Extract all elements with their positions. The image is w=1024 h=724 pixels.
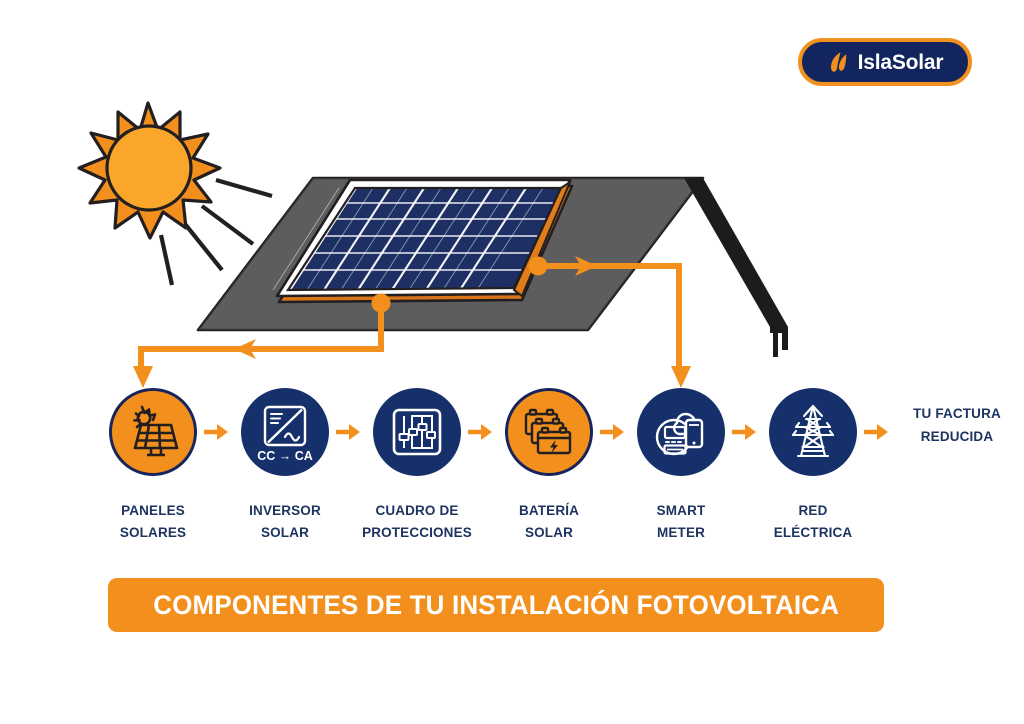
outcome-line-2: REDUCIDA	[892, 426, 1022, 449]
node-label-smart-meter: SMART METER	[606, 500, 756, 545]
solar-panel-sun-icon	[122, 401, 184, 463]
inverter-icon: CC → CA	[252, 399, 318, 465]
arrow-right-icon-3	[468, 421, 494, 443]
label-line-1: INVERSOR	[210, 500, 360, 522]
arrow-right-icon-5	[732, 421, 758, 443]
label-line-1: CUADRO DE	[342, 500, 492, 522]
node-red-electrica[interactable]	[769, 388, 857, 476]
node-paneles-solares[interactable]	[109, 388, 197, 476]
node-smart-meter[interactable]	[637, 388, 725, 476]
arrow-right-icon-6	[864, 421, 890, 443]
outcome-text: TU FACTURA REDUCIDA	[892, 403, 1022, 449]
label-line-2: SOLAR	[210, 522, 360, 544]
label-line-2: PROTECCIONES	[342, 522, 492, 544]
node-label-cuadro-protecciones: CUADRO DE PROTECCIONES	[342, 500, 492, 545]
label-line-1: RED	[738, 500, 888, 522]
node-label-red-electrica: RED ELÉCTRICA	[738, 500, 888, 545]
label-line-1: SMART	[606, 500, 756, 522]
label-line-2: SOLAR	[474, 522, 624, 544]
arrow-right-icon-1	[204, 421, 230, 443]
title-banner: COMPONENTES DE TU INSTALACIÓN FOTOVOLTAI…	[108, 578, 884, 632]
node-label-bateria-solar: BATERÍA SOLAR	[474, 500, 624, 545]
label-line-2: METER	[606, 522, 756, 544]
node-inversor-solar[interactable]: CC → CA	[241, 388, 329, 476]
battery-stack-icon	[519, 402, 579, 462]
label-line-1: BATERÍA	[474, 500, 624, 522]
node-bateria-solar[interactable]	[505, 388, 593, 476]
label-line-2: ELÉCTRICA	[738, 522, 888, 544]
smart-meter-cloud-icon	[650, 401, 712, 463]
arrow-right-icon-4	[600, 421, 626, 443]
breaker-panel-icon	[388, 403, 446, 461]
infographic-canvas: IslaSolar	[0, 0, 1024, 724]
inverter-caption: CC → CA	[257, 449, 313, 463]
label-line-2: SOLARES	[78, 522, 228, 544]
label-line-1: PANELES	[78, 500, 228, 522]
node-cuadro-protecciones[interactable]	[373, 388, 461, 476]
banner-title: COMPONENTES DE TU INSTALACIÓN FOTOVOLTAI…	[153, 590, 839, 621]
outcome-line-1: TU FACTURA	[892, 403, 1022, 426]
node-label-paneles-solares: PANELES SOLARES	[78, 500, 228, 545]
node-label-inversor-solar: INVERSOR SOLAR	[210, 500, 360, 545]
arrow-right-icon-2	[336, 421, 362, 443]
power-pylon-icon	[782, 401, 844, 463]
